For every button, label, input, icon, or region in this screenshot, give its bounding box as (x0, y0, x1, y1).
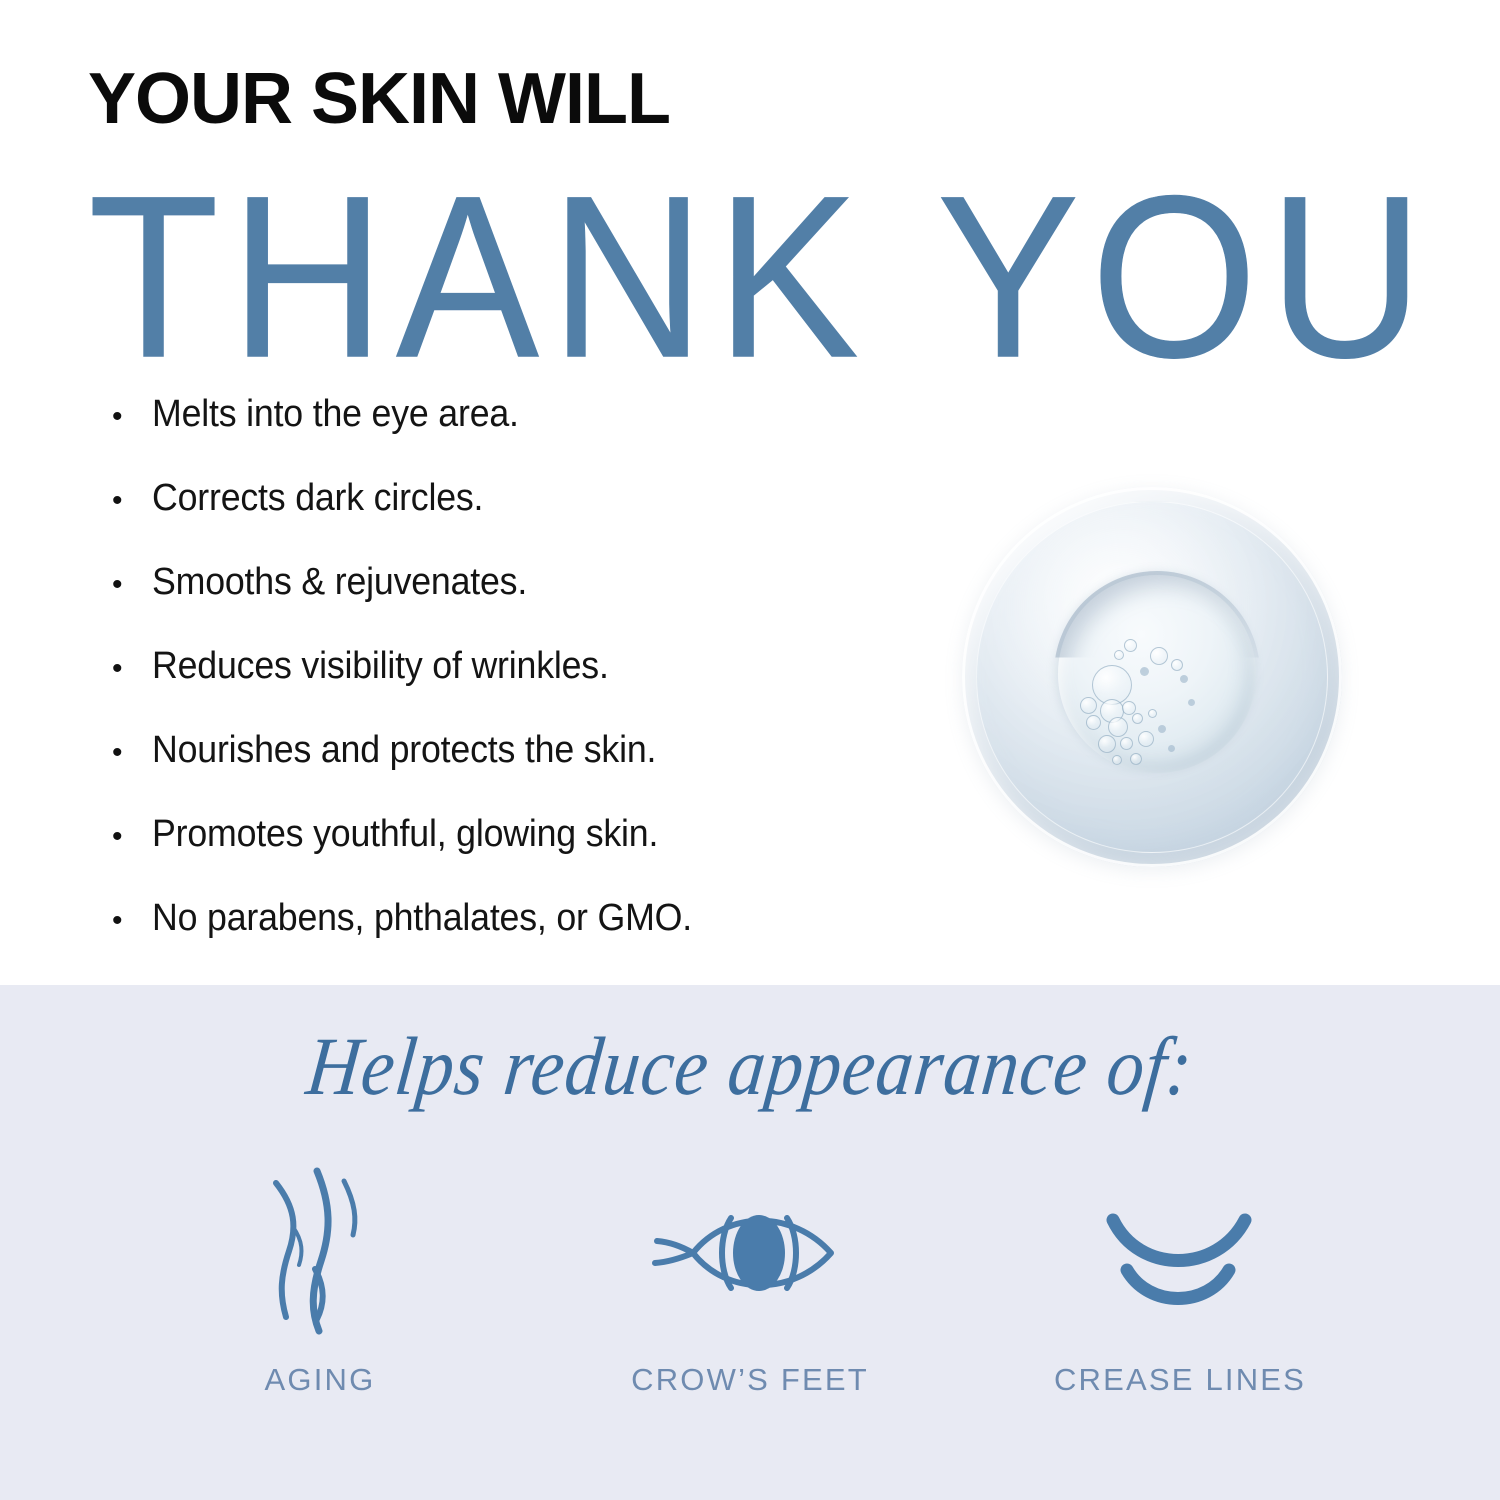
bullet-point-icon: • (112, 486, 152, 516)
page-title-thin: THANK YOU (88, 172, 1434, 384)
bubble (1112, 755, 1122, 765)
page-title-bold: YOUR SKIN WILL (88, 62, 1428, 136)
list-item-label: Reduces visibility of wrinkles. (152, 644, 609, 688)
bubble (1171, 659, 1183, 671)
concern-item-crows-feet: CROW’S FEET (590, 1165, 910, 1398)
bubble (1080, 697, 1097, 714)
bubble (1188, 699, 1195, 706)
list-item: • Melts into the eye area. (112, 392, 932, 476)
bubble (1130, 753, 1142, 765)
product-droplet-image (962, 487, 1342, 867)
bubble (1180, 675, 1188, 683)
bullet-point-icon: • (112, 402, 152, 432)
bullet-point-icon: • (112, 906, 152, 936)
list-item: • No parabens, phthalates, or GMO. (112, 896, 932, 980)
bubble (1158, 725, 1166, 733)
script-heading: Helps reduce appearance of: (0, 1015, 1500, 1118)
benefits-list: • Melts into the eye area. • Corrects da… (112, 392, 932, 980)
bubble (1120, 737, 1133, 750)
list-item-label: Corrects dark circles. (152, 476, 483, 520)
concern-item-crease-lines: CREASE LINES (1020, 1165, 1340, 1398)
bubble (1138, 731, 1154, 747)
bubble (1114, 650, 1124, 660)
concern-label: AGING (265, 1362, 376, 1398)
crows-feet-icon (635, 1165, 865, 1340)
list-item: • Promotes youthful, glowing skin. (112, 812, 932, 896)
bubble (1168, 745, 1175, 752)
list-item: • Smooths & rejuvenates. (112, 560, 932, 644)
list-item-label: Nourishes and protects the skin. (152, 728, 656, 772)
concern-label: CROW’S FEET (631, 1362, 869, 1398)
bottom-panel: Helps reduce appearance of: AGING (0, 985, 1500, 1500)
bubble (1140, 667, 1149, 676)
bullet-point-icon: • (112, 738, 152, 768)
list-item-label: No parabens, phthalates, or GMO. (152, 896, 692, 940)
bubble (1124, 639, 1137, 652)
list-item: • Reduces visibility of wrinkles. (112, 644, 932, 728)
concern-item-aging: AGING (160, 1165, 480, 1398)
bubble (1086, 715, 1101, 730)
list-item-label: Promotes youthful, glowing skin. (152, 812, 658, 856)
list-item: • Nourishes and protects the skin. (112, 728, 932, 812)
headline-block: YOUR SKIN WILL THANK YOU (88, 62, 1428, 136)
crease-lines-icon (1065, 1165, 1295, 1340)
aging-icon (245, 1165, 395, 1340)
product-benefits-graphic: YOUR SKIN WILL THANK YOU • Melts into th… (0, 0, 1500, 1500)
concern-icon-row: AGING CROW’S FEET (160, 1165, 1340, 1398)
bubble (1150, 647, 1168, 665)
bullet-point-icon: • (112, 822, 152, 852)
bubble (1132, 713, 1143, 724)
bullet-point-icon: • (112, 654, 152, 684)
page-title-thin-text: THANK YOU (88, 172, 1434, 384)
list-item: • Corrects dark circles. (112, 476, 932, 560)
concern-label: CREASE LINES (1054, 1362, 1306, 1398)
list-item-label: Melts into the eye area. (152, 392, 519, 436)
bubble (1148, 709, 1157, 718)
bubble (1098, 735, 1116, 753)
top-section: YOUR SKIN WILL THANK YOU • Melts into th… (0, 0, 1500, 985)
bullet-point-icon: • (112, 570, 152, 600)
list-item-label: Smooths & rejuvenates. (152, 560, 527, 604)
bubble (1108, 717, 1128, 737)
